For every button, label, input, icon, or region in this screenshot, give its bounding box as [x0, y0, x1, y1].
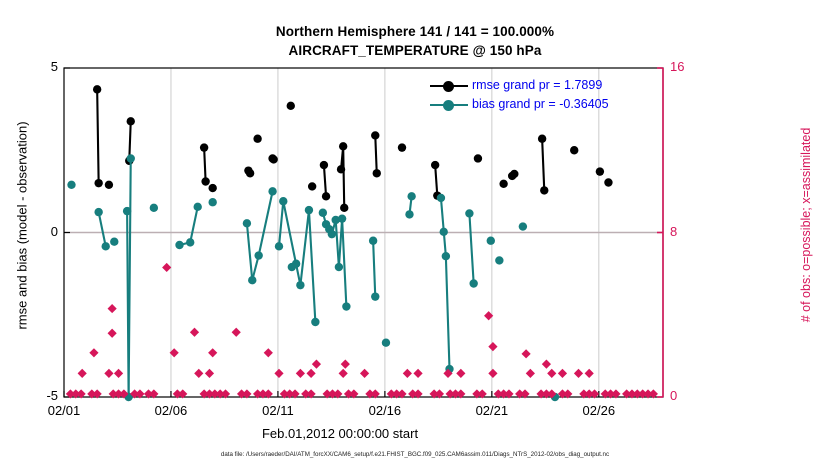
legend-marker-bias	[428, 98, 470, 112]
series-segment	[542, 139, 544, 191]
figure-canvas: Northern Hemisphere 141 / 141 = 100.000%…	[0, 0, 830, 470]
data-point-marker	[495, 256, 503, 264]
obs-count-marker	[488, 369, 497, 378]
data-point-marker	[510, 170, 518, 178]
data-point-marker	[175, 241, 183, 249]
obs-count-marker	[108, 329, 117, 338]
x-tick-label: 02/11	[243, 403, 313, 418]
data-point-marker	[373, 169, 381, 177]
data-point-marker	[371, 131, 379, 139]
data-point-marker	[94, 179, 102, 187]
obs-count-marker	[194, 369, 203, 378]
data-point-marker	[596, 167, 604, 175]
series-segment	[129, 158, 131, 397]
data-point-marker	[248, 276, 256, 284]
x-tick-label: 02/21	[457, 403, 527, 418]
obs-count-marker	[114, 369, 123, 378]
data-point-marker	[440, 228, 448, 236]
obs-count-marker	[205, 369, 214, 378]
obs-count-marker	[542, 360, 551, 369]
series-segment	[446, 256, 450, 369]
obs-count-marker	[547, 369, 556, 378]
obs-count-marker	[274, 369, 283, 378]
obs-count-marker	[296, 369, 305, 378]
x-tick-label: 02/06	[136, 403, 206, 418]
data-point-marker	[127, 154, 135, 162]
data-point-marker	[442, 252, 450, 260]
data-point-marker	[465, 209, 473, 217]
x-tick-label: 02/01	[29, 403, 99, 418]
data-point-marker	[437, 194, 445, 202]
data-point-marker	[469, 279, 477, 287]
obs-count-marker	[341, 360, 350, 369]
data-point-marker	[328, 230, 336, 238]
data-point-marker	[382, 339, 390, 347]
y-tick-label-left: 5	[18, 59, 58, 74]
data-point-marker	[246, 169, 254, 177]
data-point-marker	[194, 203, 202, 211]
data-point-marker	[540, 186, 548, 194]
series-segment	[324, 165, 326, 196]
obs-count-marker	[403, 369, 412, 378]
data-point-marker	[102, 242, 110, 250]
series-segment	[300, 210, 309, 285]
obs-count-marker	[306, 369, 315, 378]
data-point-marker	[253, 135, 261, 143]
data-point-marker	[186, 238, 194, 246]
data-point-marker	[268, 187, 276, 195]
data-point-marker	[254, 251, 262, 259]
obs-count-marker	[208, 348, 217, 357]
data-point-marker	[538, 135, 546, 143]
data-point-marker	[339, 142, 347, 150]
series-segment	[259, 191, 273, 255]
series-segment	[309, 210, 315, 322]
obs-count-marker	[413, 369, 422, 378]
series-segment	[375, 135, 376, 173]
data-point-marker	[398, 143, 406, 151]
obs-count-marker	[190, 328, 199, 337]
y-tick-label-right: 8	[670, 224, 710, 239]
data-file-caption: data file: /Users/raeder/DAI/ATM_forcXX/…	[0, 451, 830, 458]
data-point-marker	[292, 260, 300, 268]
series-segment	[279, 201, 283, 246]
data-point-marker	[67, 181, 75, 189]
data-point-marker	[150, 204, 158, 212]
data-point-marker	[487, 237, 495, 245]
data-point-marker	[243, 219, 251, 227]
data-point-marker	[319, 209, 327, 217]
data-point-marker	[405, 210, 413, 218]
y-tick-label-left: 0	[18, 224, 58, 239]
series-segment	[343, 146, 344, 208]
legend-item-bias[interactable]: bias grand pr = -0.36405	[428, 95, 609, 114]
data-point-marker	[474, 154, 482, 162]
obs-count-marker	[264, 348, 273, 357]
obs-count-marker	[339, 369, 348, 378]
data-point-marker	[335, 263, 343, 271]
legend-item-rmse[interactable]: rmse grand pr = 1.7899	[428, 76, 609, 95]
data-point-marker	[371, 292, 379, 300]
obs-count-marker	[558, 369, 567, 378]
data-point-marker	[93, 85, 101, 93]
obs-count-marker	[232, 328, 241, 337]
obs-count-marker	[108, 304, 117, 313]
series-segment	[373, 241, 375, 297]
data-point-marker	[208, 198, 216, 206]
data-point-marker	[338, 214, 346, 222]
data-point-marker	[269, 155, 277, 163]
data-point-marker	[337, 165, 345, 173]
obs-count-marker	[78, 369, 87, 378]
data-point-marker	[208, 184, 216, 192]
data-point-marker	[407, 192, 415, 200]
obs-count-marker	[360, 369, 369, 378]
data-point-marker	[320, 161, 328, 169]
obs-count-marker	[585, 369, 594, 378]
data-point-marker	[279, 197, 287, 205]
series-segment	[204, 148, 205, 182]
obs-count-marker	[162, 263, 171, 272]
series-segment	[441, 198, 446, 256]
series-segment	[283, 201, 300, 285]
data-point-marker	[431, 161, 439, 169]
series-segment	[469, 213, 473, 283]
series-segment	[97, 89, 98, 183]
obs-count-marker	[456, 369, 465, 378]
data-point-marker	[275, 242, 283, 250]
data-point-marker	[340, 204, 348, 212]
data-point-marker	[570, 146, 578, 154]
legend-label-bias: bias grand pr = -0.36405	[472, 95, 609, 114]
y-tick-label-left: -5	[18, 388, 58, 403]
obs-count-marker	[526, 369, 535, 378]
data-point-marker	[127, 117, 135, 125]
data-point-marker	[311, 318, 319, 326]
data-point-marker	[94, 208, 102, 216]
y-tick-label-right: 0	[670, 388, 710, 403]
data-point-marker	[369, 237, 377, 245]
data-point-marker	[296, 281, 304, 289]
legend-label-rmse: rmse grand pr = 1.7899	[472, 76, 602, 95]
obs-count-marker	[104, 369, 113, 378]
data-point-marker	[110, 238, 118, 246]
x-tick-label: 02/16	[350, 403, 420, 418]
data-point-marker	[519, 222, 527, 230]
data-point-marker	[308, 182, 316, 190]
series-segment	[435, 165, 437, 196]
obs-count-marker	[488, 342, 497, 351]
series-segment	[190, 207, 197, 243]
obs-count-marker	[521, 349, 530, 358]
data-point-marker	[499, 180, 507, 188]
obs-count-marker	[312, 360, 321, 369]
obs-count-marker	[574, 369, 583, 378]
data-point-marker	[287, 102, 295, 110]
data-point-marker	[200, 143, 208, 151]
legend: rmse grand pr = 1.7899 bias grand pr = -…	[428, 76, 609, 114]
x-tick-label: 02/26	[564, 403, 634, 418]
data-point-marker	[123, 207, 131, 215]
obs-count-marker	[89, 348, 98, 357]
data-point-marker	[201, 177, 209, 185]
data-point-marker	[305, 206, 313, 214]
y-tick-label-right: 16	[670, 59, 710, 74]
data-point-marker	[604, 178, 612, 186]
legend-marker-rmse	[428, 79, 470, 93]
data-point-marker	[105, 181, 113, 189]
series-segment	[99, 212, 106, 246]
data-point-marker	[342, 302, 350, 310]
data-point-marker	[322, 192, 330, 200]
